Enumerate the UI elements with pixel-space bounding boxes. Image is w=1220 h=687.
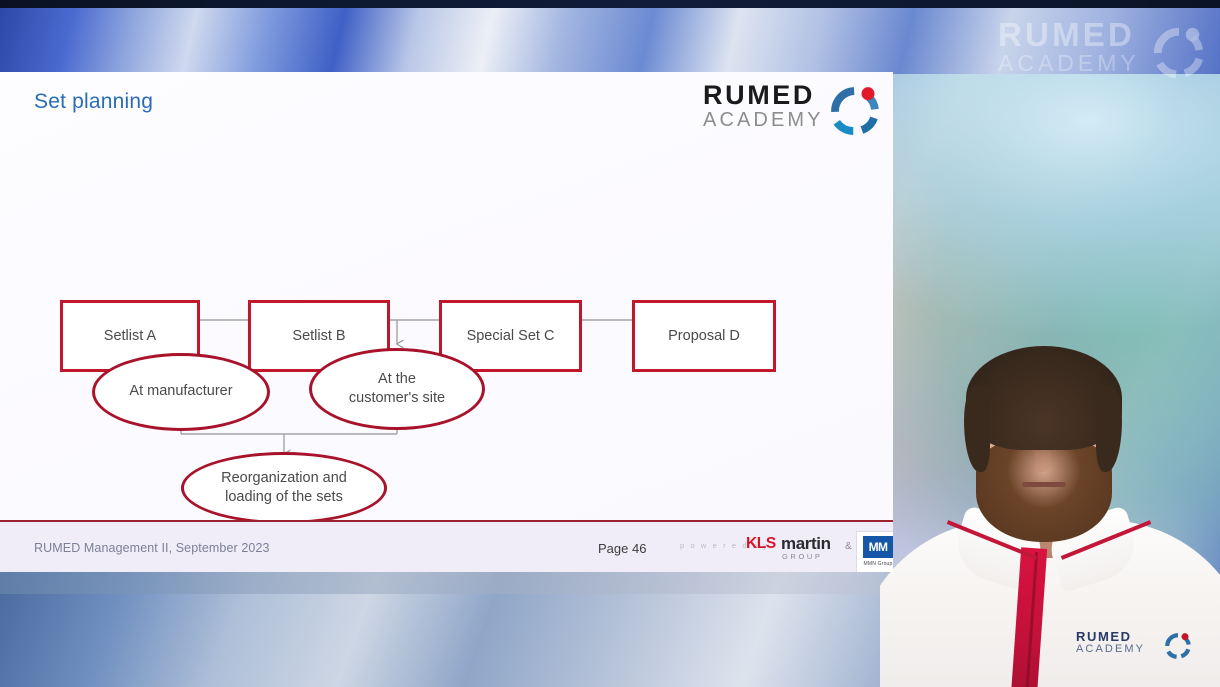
video-background-top-strip: [0, 0, 1220, 8]
footer-mmn-group-label: MMN Group: [863, 561, 892, 567]
footer-ampersand: &: [845, 541, 852, 552]
footer-page-number: Page 46: [598, 541, 646, 556]
rumed-circle-mark-icon: [1164, 632, 1192, 660]
footer-group-text: GROUP: [782, 552, 823, 561]
flowchart-box-label: Special Set C: [467, 328, 555, 344]
footer-mm-monogram: MM: [863, 536, 893, 558]
presenter-shirt-logo: RUMED ACADEMY: [1076, 630, 1196, 670]
presentation-stage: RUMED ACADEMY: [0, 0, 1220, 687]
presenter-hair-side-left: [964, 386, 990, 472]
flowchart-ellipse-label: Reorganization and loading of the sets: [184, 469, 384, 507]
flowchart-ellipse-label: At manufacturer: [115, 382, 246, 401]
rumed-mark-dot: [1182, 633, 1189, 640]
presenter-hair-side-right: [1096, 386, 1122, 472]
footer-sponsor-block: p o w e r e d b y KLS martin GROUP & MM …: [680, 532, 880, 572]
flowchart-ellipse-customer-site[interactable]: At the customer's site: [309, 348, 485, 430]
footer-martin-text: martin: [781, 534, 831, 554]
presenter-video-figure: RUMED ACADEMY: [880, 330, 1220, 687]
flowchart-ellipse-label: At the customer's site: [312, 370, 482, 408]
flowchart-box-label: Setlist B: [292, 328, 345, 344]
footer-kls-text: KLS: [746, 535, 776, 553]
slide-footer: RUMED Management II, September 2023 Page…: [0, 522, 893, 572]
flowchart-ellipse-at-manufacturer[interactable]: At manufacturer: [92, 353, 270, 431]
flowchart-box-label: Setlist A: [104, 328, 156, 344]
presentation-slide: Set planning RUMED ACADEMY: [0, 72, 893, 572]
footer-course-label: RUMED Management II, September 2023: [34, 541, 270, 555]
flowchart-box-label: Proposal D: [668, 328, 740, 344]
video-background-upper-band: [0, 8, 1220, 74]
footer-mmn-group-logo: MM MMN Group: [856, 531, 893, 572]
flowchart-ellipse-reorganization[interactable]: Reorganization and loading of the sets: [181, 452, 387, 524]
flowchart-box-proposal-d[interactable]: Proposal D: [632, 300, 776, 372]
presenter-mouth: [1022, 482, 1066, 487]
